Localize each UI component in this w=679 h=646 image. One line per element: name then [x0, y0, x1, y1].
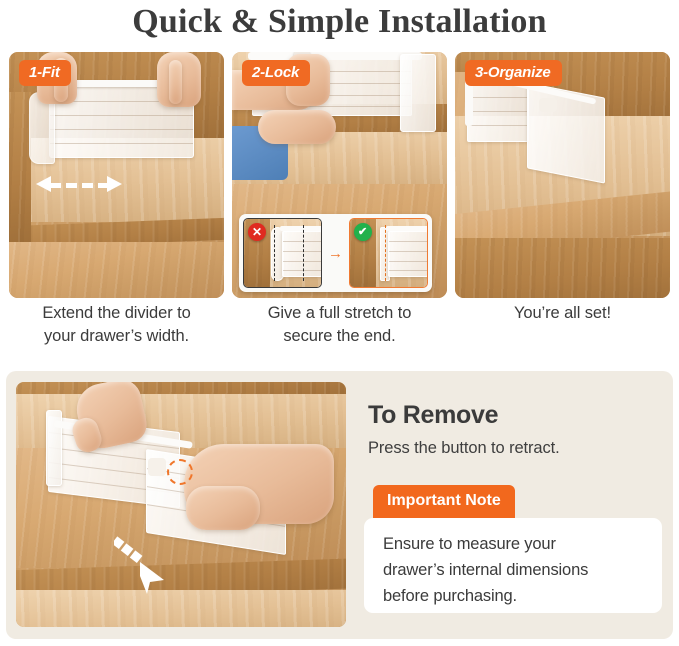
release-button-highlight — [167, 459, 193, 485]
step-2-caption: Give a full stretch to secure the end. — [232, 302, 447, 358]
step-3-caption: You’re all set! — [455, 302, 670, 358]
page-title: Quick & Simple Installation — [0, 0, 679, 44]
step-1-badge: 1-Fit — [19, 60, 71, 86]
remove-heading: To Remove — [368, 401, 498, 430]
step-panel-2: 2-Lock ✕ → — [232, 52, 447, 298]
step-1-photo — [9, 52, 224, 298]
note-line-3: before purchasing. — [383, 583, 646, 609]
infographic-page: Quick & Simple Installation — [0, 0, 679, 646]
cross-icon: ✕ — [248, 223, 266, 241]
step-2-caption-line1: Give a full stretch to — [232, 302, 447, 325]
step-2-caption-line2: secure the end. — [232, 325, 447, 348]
extend-arrow-icon — [36, 180, 122, 192]
comparison-good: ✔ — [349, 218, 428, 288]
step-3-caption-line1: You’re all set! — [455, 302, 670, 325]
step-3-badge: 3-Organize — [465, 60, 562, 86]
step-2-badge: 2-Lock — [242, 60, 310, 86]
note-line-1: Ensure to measure your — [383, 531, 646, 557]
step-3-photo — [455, 52, 670, 298]
comparison-inset: ✕ → ✔ — [239, 214, 432, 292]
comparison-bad: ✕ — [243, 218, 322, 288]
captions-row: Extend the divider to your drawer’s widt… — [9, 302, 670, 358]
step-panel-1: 1-Fit — [9, 52, 224, 298]
step-1-caption-line1: Extend the divider to — [9, 302, 224, 325]
step-1-caption-line2: your drawer’s width. — [9, 325, 224, 348]
inset-arrow-icon: → — [326, 246, 344, 261]
step-1-caption: Extend the divider to your drawer’s widt… — [9, 302, 224, 358]
remove-subheading: Press the button to retract. — [368, 439, 560, 458]
note-line-2: drawer’s internal dimensions — [383, 557, 646, 583]
step-panel-3: 3-Organize — [455, 52, 670, 298]
retract-arrow-icon — [114, 532, 172, 594]
remove-photo — [16, 382, 346, 627]
important-note-box: Ensure to measure your drawer’s internal… — [364, 518, 662, 613]
check-icon: ✔ — [354, 223, 372, 241]
remove-section: To Remove Press the button to retract. I… — [6, 371, 673, 639]
steps-row: 1-Fit — [9, 52, 670, 298]
important-note-tab: Important Note — [373, 485, 515, 518]
